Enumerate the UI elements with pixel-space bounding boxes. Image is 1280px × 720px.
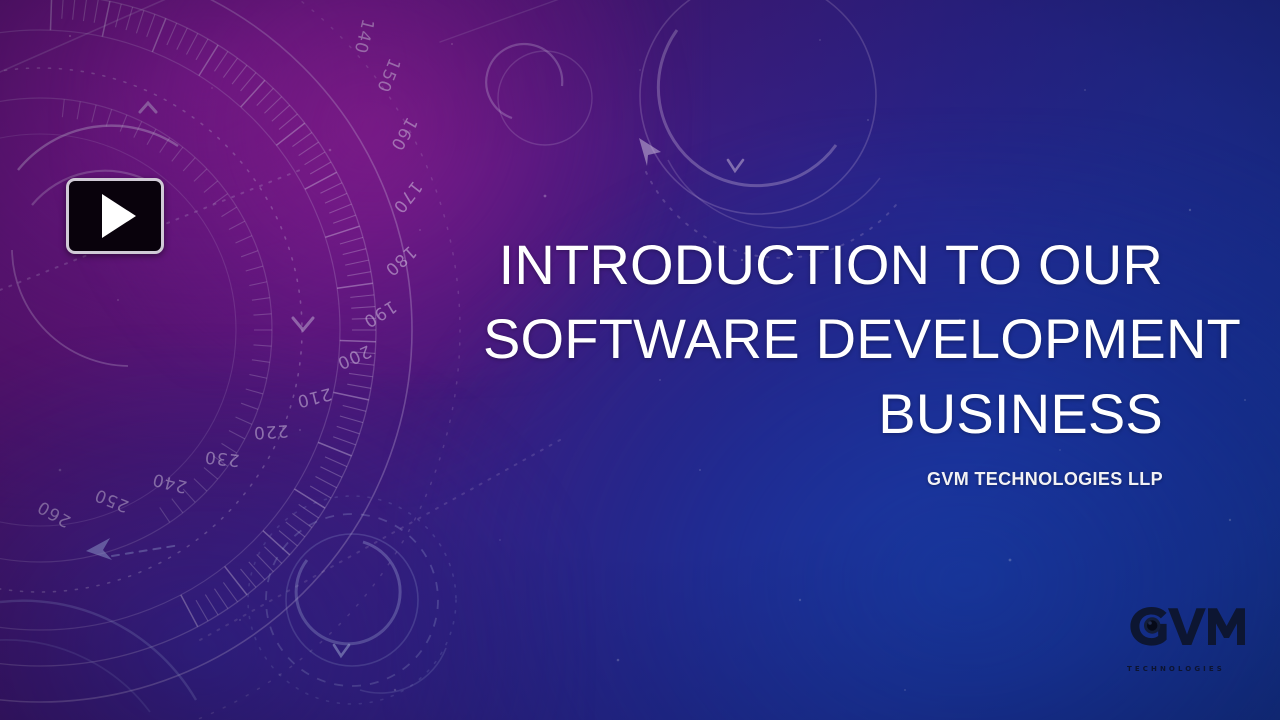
company-logo: TECHNOLOGIES bbox=[1127, 604, 1247, 658]
title-block: INTRODUCTION TO OUR SOFTWARE DEVELOPMENT… bbox=[483, 228, 1163, 490]
slide-subtitle: GVM TECHNOLOGIES LLP bbox=[483, 469, 1163, 490]
video-play-button[interactable] bbox=[66, 178, 164, 254]
logo-tagline: TECHNOLOGIES bbox=[1127, 665, 1247, 673]
title-line-2: SOFTWARE DEVELOPMENT bbox=[483, 307, 1241, 370]
page-title: INTRODUCTION TO OUR SOFTWARE DEVELOPMENT… bbox=[483, 228, 1163, 451]
presentation-slide: 140 150 160 170 180 190 200 210 220 230 … bbox=[0, 0, 1280, 720]
play-triangle-icon bbox=[102, 194, 136, 238]
gvm-logo-mark bbox=[1127, 604, 1247, 658]
title-line-3: BUSINESS bbox=[878, 382, 1163, 445]
title-line-1: INTRODUCTION TO OUR bbox=[499, 233, 1163, 296]
